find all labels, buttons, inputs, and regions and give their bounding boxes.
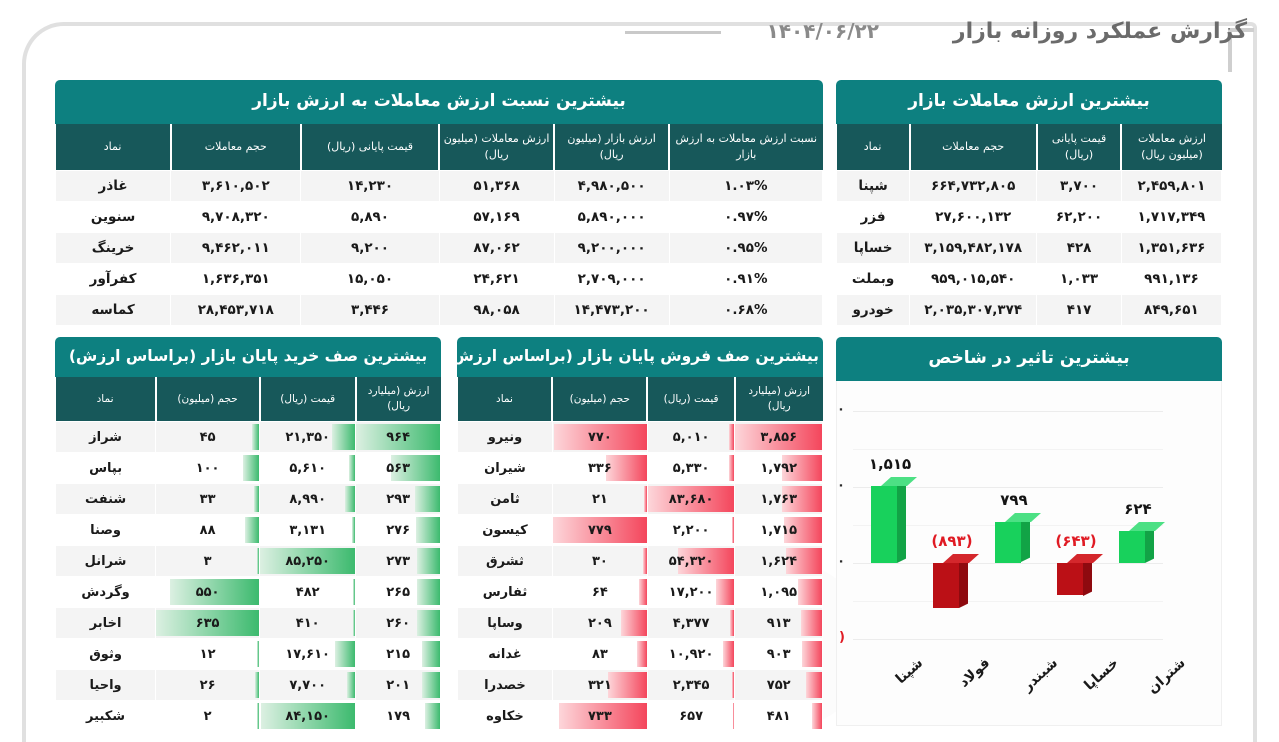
data-bar	[732, 517, 735, 543]
cell-symbol: شرانل	[56, 546, 156, 577]
cell-symbol: وصنا	[56, 515, 156, 546]
cell-ratio: ۰.۶۸%	[669, 294, 822, 325]
col-trade-value: ارزش معاملات (میلیون ریال)	[439, 124, 554, 170]
cell-volume: ۸۸	[156, 515, 260, 546]
grid-line	[853, 639, 1163, 640]
card-buy-queue: بیشترین صف خرید پایان بازار (براساس ارزش…	[55, 337, 441, 732]
bar-top	[1005, 513, 1041, 522]
table-row: ۹۹۱,۱۳۶۱,۰۳۳۹۵۹,۰۱۵,۵۴۰وبملت	[837, 263, 1222, 294]
cell-volume: ۷۷۰	[552, 422, 647, 453]
cell-marketcap: ۵,۸۹۰,۰۰۰	[554, 201, 669, 232]
cell-close-price: ۵,۸۹۰	[301, 201, 439, 232]
table-row: ۱,۰۹۵۱۷,۲۰۰۶۴ثفارس	[458, 577, 823, 608]
cell-symbol: کیسون	[458, 515, 553, 546]
bar-face	[1057, 563, 1083, 596]
data-bar	[349, 455, 356, 481]
bar-top	[1129, 522, 1165, 531]
cell-value: ۲,۴۵۹,۸۰۱	[1121, 170, 1221, 201]
cell-value: ۵۶۳	[356, 453, 441, 484]
chart-bar	[1119, 531, 1145, 563]
data-bar	[254, 486, 259, 512]
cell-price: ۵,۳۳۰	[647, 453, 735, 484]
data-bar	[417, 579, 440, 605]
cell-volume: ۱۲	[156, 639, 260, 670]
x-axis-label: خساپا	[1082, 655, 1123, 694]
col-volume: حجم (میلیون)	[156, 377, 260, 422]
table-row: ۰.۶۸%۱۴,۴۷۳,۲۰۰۹۸,۰۵۸۳,۴۴۶۲۸,۴۵۳,۷۱۸کماس…	[56, 294, 823, 325]
col-value: ارزش (میلیارد ریال)	[356, 377, 441, 422]
table-header-row: ارزش معاملات (میلیون ریال) قیمت پایانی (…	[837, 124, 1222, 170]
cell-symbol: خساپا	[837, 232, 910, 263]
cell-price: ۴۱۷	[1037, 294, 1122, 325]
data-bar	[639, 579, 647, 605]
card-title: بیشترین صف خرید پایان بازار (براساس ارزش…	[55, 337, 441, 377]
data-bar	[417, 610, 440, 636]
cell-value: ۱,۳۵۱,۶۳۶	[1121, 232, 1221, 263]
data-bar	[644, 486, 647, 512]
y-axis-label: ۱,۵۰۰	[836, 478, 845, 493]
card-sell-queue: بیشترین صف فروش پایان بازار (براساس ارزش…	[457, 337, 823, 732]
cell-price: ۱۷,۲۰۰	[647, 577, 735, 608]
cell-symbol: ثشرق	[458, 546, 553, 577]
report-date: ۱۴۰۴/۰۶/۲۲	[767, 19, 879, 43]
cell-volume: ۵۵۰	[156, 577, 260, 608]
cell-volume: ۱۰۰	[156, 453, 260, 484]
table-row: ۹۱۳۴,۳۷۷۲۰۹وساپا	[458, 608, 823, 639]
bar-value-label: ۶۲۴	[1113, 500, 1163, 518]
cell-volume: ۳,۱۵۹,۴۸۲,۱۷۸	[910, 232, 1037, 263]
grid-line-minor	[853, 449, 1163, 450]
data-bar	[732, 672, 735, 698]
data-bar	[335, 641, 355, 667]
cell-symbol: ونیرو	[458, 422, 553, 453]
table-row: ۷۵۲۲,۳۴۵۳۲۱خصدرا	[458, 670, 823, 701]
cell-volume: ۲۶	[156, 670, 260, 701]
chart-bar	[933, 563, 959, 608]
page-header: گزارش عملکرد روزانه بازار ۱۴۰۴/۰۶/۲۲	[0, 0, 1279, 62]
cell-price: ۵,۶۱۰	[260, 453, 356, 484]
col-close-price: قیمت پایانی (ریال)	[301, 124, 439, 170]
col-value: ارزش (میلیارد ریال)	[735, 377, 823, 422]
bar-face	[871, 486, 897, 563]
cell-volume: ۱,۶۳۶,۳۵۱	[171, 263, 301, 294]
data-bar	[417, 548, 440, 574]
cell-volume: ۳۳	[156, 484, 260, 515]
x-axis-label: فولاد	[956, 655, 993, 691]
col-volume: حجم (میلیون)	[552, 377, 647, 422]
x-axis-label: شبندر	[1020, 655, 1061, 695]
cell-volume: ۳,۶۱۰,۵۰۲	[171, 170, 301, 201]
data-bar	[415, 486, 440, 512]
bar-face	[1119, 531, 1145, 563]
table-row: ۲,۴۵۹,۸۰۱۳,۷۰۰۶۶۴,۷۳۲,۸۰۵شپنا	[837, 170, 1222, 201]
cell-price: ۸۵,۲۵۰	[260, 546, 356, 577]
cell-symbol: فزر	[837, 201, 910, 232]
col-price: قیمت (ریال)	[260, 377, 356, 422]
bar-face	[933, 563, 959, 608]
col-ratio: نسبت ارزش معاملات به ارزش بازار	[669, 124, 822, 170]
table-buy-queue: ارزش (میلیارد ریال) قیمت (ریال) حجم (میل…	[55, 377, 441, 732]
cell-symbol: شراز	[56, 422, 156, 453]
cell-symbol: وگردش	[56, 577, 156, 608]
cell-volume: ۲	[156, 701, 260, 732]
cell-price: ۵۴,۳۲۰	[647, 546, 735, 577]
table-header-row: ارزش (میلیارد ریال) قیمت (ریال) حجم (میل…	[56, 377, 441, 422]
table-row: ۸۴۹,۶۵۱۴۱۷۲,۰۳۵,۳۰۷,۳۷۴خودرو	[837, 294, 1222, 325]
cell-value: ۱,۷۱۵	[735, 515, 823, 546]
cell-value: ۲۶۵	[356, 577, 441, 608]
col-marketcap: ارزش بازار (میلیون ریال)	[554, 124, 669, 170]
chart-canvas: ۳,۰۰۰۱,۵۰۰۰(۱,۵۰۰)۱,۵۱۵شپنا(۸۹۳)فولاد۷۹۹…	[836, 381, 1222, 726]
cell-price: ۴۱۰	[260, 608, 356, 639]
cell-value: ۹۹۱,۱۳۶	[1121, 263, 1221, 294]
table-row: ۵۶۳۵,۶۱۰۱۰۰بپاس	[56, 453, 441, 484]
table-header-row: نسبت ارزش معاملات به ارزش بازار ارزش باز…	[56, 124, 823, 170]
cell-marketcap: ۹,۲۰۰,۰۰۰	[554, 232, 669, 263]
cell-value: ۹۶۴	[356, 422, 441, 453]
y-axis-label: ۰	[836, 554, 845, 569]
cell-volume: ۴۵	[156, 422, 260, 453]
data-bar	[608, 672, 646, 698]
bar-value-label: (۶۴۳)	[1051, 532, 1101, 550]
cell-volume: ۶۶۴,۷۳۲,۸۰۵	[910, 170, 1037, 201]
table-row: ۰.۹۷%۵,۸۹۰,۰۰۰۵۷,۱۶۹۵,۸۹۰۹,۷۰۸,۳۲۰سنوین	[56, 201, 823, 232]
col-symbol: نماد	[458, 377, 553, 422]
cell-trade-value: ۹۸,۰۵۸	[439, 294, 554, 325]
cell-value: ۱,۷۹۲	[735, 453, 823, 484]
table-row: ۲۹۳۸,۹۹۰۳۳شنفت	[56, 484, 441, 515]
cell-value: ۴۸۱	[735, 701, 823, 732]
bar-side	[1083, 558, 1092, 595]
table-row: ۰.۹۵%۹,۲۰۰,۰۰۰۸۷,۰۶۲۹,۲۰۰۹,۴۶۲,۰۱۱خرینگ	[56, 232, 823, 263]
cell-volume: ۲,۰۳۵,۳۰۷,۳۷۴	[910, 294, 1037, 325]
cell-price: ۴,۳۷۷	[647, 608, 735, 639]
cell-price: ۳,۷۰۰	[1037, 170, 1122, 201]
data-bar	[416, 517, 440, 543]
cell-price: ۴۸۲	[260, 577, 356, 608]
data-bar	[425, 703, 440, 729]
cell-value: ۲۷۶	[356, 515, 441, 546]
cell-marketcap: ۴,۹۸۰,۵۰۰	[554, 170, 669, 201]
table-row: ۹۰۳۱۰,۹۲۰۸۳غدانه	[458, 639, 823, 670]
table-sell-queue: ارزش (میلیارد ریال) قیمت (ریال) حجم (میل…	[457, 377, 823, 732]
cell-price: ۵,۰۱۰	[647, 422, 735, 453]
cell-volume: ۲۰۹	[552, 608, 647, 639]
data-bar	[716, 579, 734, 605]
data-bar	[801, 610, 822, 636]
bar-value-label: (۸۹۳)	[927, 532, 977, 550]
page-title: گزارش عملکرد روزانه بازار	[953, 19, 1247, 44]
cell-value: ۲۷۳	[356, 546, 441, 577]
cell-value: ۳,۸۵۶	[735, 422, 823, 453]
col-volume: حجم معاملات	[910, 124, 1037, 170]
table-row: ۱۷۹۸۴,۱۵۰۲شکبیر	[56, 701, 441, 732]
cell-trade-value: ۵۷,۱۶۹	[439, 201, 554, 232]
cell-price: ۷,۷۰۰	[260, 670, 356, 701]
card-title: بیشترین تاثیر در شاخص	[836, 337, 1222, 381]
table-row: ۱,۷۹۲۵,۳۳۰۳۳۶شیران	[458, 453, 823, 484]
data-bar	[729, 455, 734, 481]
table-row: ۲۱۵۱۷,۶۱۰۱۲وثوق	[56, 639, 441, 670]
cell-price: ۲,۲۰۰	[647, 515, 735, 546]
cell-symbol: خکاوه	[458, 701, 553, 732]
bar-value-label: ۱,۵۱۵	[865, 455, 915, 473]
data-bar	[353, 579, 355, 605]
cell-price: ۳,۱۳۱	[260, 515, 356, 546]
cell-symbol: شکبیر	[56, 701, 156, 732]
cell-volume: ۳۲۱	[552, 670, 647, 701]
cell-symbol: غدانه	[458, 639, 553, 670]
cell-price: ۴۲۸	[1037, 232, 1122, 263]
bar-face	[995, 522, 1021, 562]
cell-value: ۱۷۹	[356, 701, 441, 732]
cell-symbol: وبملت	[837, 263, 910, 294]
cell-price: ۸۳,۶۸۰	[647, 484, 735, 515]
data-bar	[422, 672, 440, 698]
data-bar	[606, 455, 646, 481]
table-row: ۱,۶۲۴۵۴,۳۲۰۳۰ثشرق	[458, 546, 823, 577]
data-bar	[812, 703, 822, 729]
cell-symbol: ثامن	[458, 484, 553, 515]
cell-value: ۹۱۳	[735, 608, 823, 639]
data-bar	[733, 703, 735, 729]
data-bar	[798, 579, 822, 605]
cell-value: ۱,۷۶۳	[735, 484, 823, 515]
cell-marketcap: ۱۴,۴۷۳,۲۰۰	[554, 294, 669, 325]
bar-side	[959, 558, 968, 608]
cell-volume: ۸۳	[552, 639, 647, 670]
cell-symbol: غاذر	[56, 170, 171, 201]
cell-close-price: ۱۴,۲۳۰	[301, 170, 439, 201]
cell-close-price: ۱۵,۰۵۰	[301, 263, 439, 294]
cell-symbol: بپاس	[56, 453, 156, 484]
cell-value: ۲۱۵	[356, 639, 441, 670]
table-header-row: ارزش (میلیارد ریال) قیمت (ریال) حجم (میل…	[458, 377, 823, 422]
bar-side	[1145, 527, 1154, 563]
table-row: ۳,۸۵۶۵,۰۱۰۷۷۰ونیرو	[458, 422, 823, 453]
card-title: بیشترین نسبت ارزش معاملات به ارزش بازار	[55, 80, 823, 124]
cell-price: ۱۷,۶۱۰	[260, 639, 356, 670]
cell-symbol: وساپا	[458, 608, 553, 639]
cell-ratio: ۰.۹۵%	[669, 232, 822, 263]
cell-value: ۲۹۳	[356, 484, 441, 515]
cell-symbol: شیران	[458, 453, 553, 484]
cell-volume: ۲۱	[552, 484, 647, 515]
grid-line-minor	[853, 601, 1163, 602]
cell-symbol: کماسه	[56, 294, 171, 325]
cell-marketcap: ۲,۷۰۹,۰۰۰	[554, 263, 669, 294]
table-row: ۱,۷۱۵۲,۲۰۰۷۷۹کیسون	[458, 515, 823, 546]
cell-value: ۸۴۹,۶۵۱	[1121, 294, 1221, 325]
cell-volume: ۷۷۹	[552, 515, 647, 546]
data-bar	[332, 424, 356, 450]
data-bar	[730, 610, 734, 636]
cell-volume: ۳	[156, 546, 260, 577]
x-axis-label: شتران	[1145, 655, 1189, 697]
report-page: گزارش عملکرد روزانه بازار ۱۴۰۴/۰۶/۲۲ بیش…	[0, 0, 1279, 742]
cell-ratio: ۰.۹۷%	[669, 201, 822, 232]
data-bar	[723, 641, 734, 667]
col-symbol: نماد	[56, 124, 171, 170]
bar-side	[897, 482, 906, 563]
bar-top	[1067, 554, 1103, 563]
bar-side	[1021, 518, 1030, 563]
col-price: قیمت پایانی (ریال)	[1037, 124, 1122, 170]
data-bar	[643, 548, 647, 574]
cell-symbol: اخابر	[56, 608, 156, 639]
cell-value: ۱,۷۱۷,۳۴۹	[1121, 201, 1221, 232]
data-bar	[802, 641, 822, 667]
cell-symbol: خودرو	[837, 294, 910, 325]
data-bar	[245, 517, 259, 543]
bar-top	[943, 554, 979, 563]
card-trade-to-mcap-ratio: بیشترین نسبت ارزش معاملات به ارزش بازار …	[55, 80, 823, 326]
y-axis-label: ۳,۰۰۰	[836, 402, 845, 417]
data-bar	[729, 424, 734, 450]
data-bar	[257, 641, 259, 667]
table-row: ۲۷۳۸۵,۲۵۰۳شرانل	[56, 546, 441, 577]
grid-line	[853, 411, 1163, 412]
cell-value: ۲۶۰	[356, 608, 441, 639]
data-bar	[243, 455, 259, 481]
cell-volume: ۲۷,۶۰۰,۱۳۲	[910, 201, 1037, 232]
cell-symbol: سنوین	[56, 201, 171, 232]
cell-volume: ۳۳۶	[552, 453, 647, 484]
cell-value: ۹۰۳	[735, 639, 823, 670]
cell-symbol: واحیا	[56, 670, 156, 701]
col-volume: حجم معاملات	[171, 124, 301, 170]
table-row: ۹۶۴۲۱,۳۵۰۴۵شراز	[56, 422, 441, 453]
table-row: ۴۸۱۶۵۷۷۳۳خکاوه	[458, 701, 823, 732]
table-row: ۱.۰۳%۴,۹۸۰,۵۰۰۵۱,۳۶۸۱۴,۲۳۰۳,۶۱۰,۵۰۲غاذر	[56, 170, 823, 201]
table-top-trade-value: ارزش معاملات (میلیون ریال) قیمت پایانی (…	[836, 124, 1222, 326]
cell-volume: ۷۳۳	[552, 701, 647, 732]
cell-symbol: شپنا	[837, 170, 910, 201]
cell-close-price: ۳,۴۴۶	[301, 294, 439, 325]
data-bar	[352, 517, 356, 543]
cell-value: ۷۵۲	[735, 670, 823, 701]
data-bar	[257, 703, 259, 729]
table-row: ۲۷۶۳,۱۳۱۸۸وصنا	[56, 515, 441, 546]
data-bar	[806, 672, 822, 698]
data-bar	[422, 641, 440, 667]
card-title: بیشترین ارزش معاملات بازار	[836, 80, 1222, 124]
cell-close-price: ۹,۲۰۰	[301, 232, 439, 263]
table-trade-to-mcap-ratio: نسبت ارزش معاملات به ارزش بازار ارزش باز…	[55, 124, 823, 326]
cell-volume: ۹,۷۰۸,۳۲۰	[171, 201, 301, 232]
cell-ratio: ۰.۹۱%	[669, 263, 822, 294]
cell-symbol: خصدرا	[458, 670, 553, 701]
cell-symbol: شنفت	[56, 484, 156, 515]
table-row: ۲۶۵۴۸۲۵۵۰وگردش	[56, 577, 441, 608]
cell-volume: ۹,۴۶۲,۰۱۱	[171, 232, 301, 263]
cell-price: ۶۵۷	[647, 701, 735, 732]
cell-volume: ۶۴	[552, 577, 647, 608]
cell-symbol: کفرآور	[56, 263, 171, 294]
cell-value: ۱,۰۹۵	[735, 577, 823, 608]
table-row: ۰.۹۱%۲,۷۰۹,۰۰۰۲۴,۶۲۱۱۵,۰۵۰۱,۶۳۶,۳۵۱کفرآو…	[56, 263, 823, 294]
col-symbol: نماد	[56, 377, 156, 422]
cell-price: ۲,۳۴۵	[647, 670, 735, 701]
cell-price: ۱۰,۹۲۰	[647, 639, 735, 670]
card-index-impact-chart: بیشترین تاثیر در شاخص ۳,۰۰۰۱,۵۰۰۰(۱,۵۰۰)…	[836, 337, 1222, 726]
data-bar	[255, 672, 259, 698]
cell-symbol: وثوق	[56, 639, 156, 670]
cell-price: ۸۴,۱۵۰	[260, 701, 356, 732]
table-row: ۱,۷۱۷,۳۴۹۶۲,۲۰۰۲۷,۶۰۰,۱۳۲فزر	[837, 201, 1222, 232]
x-axis-label: شپنا	[893, 655, 926, 687]
cell-value: ۱,۶۲۴	[735, 546, 823, 577]
data-bar	[637, 641, 647, 667]
cell-price: ۱,۰۳۳	[1037, 263, 1122, 294]
card-top-trade-value: بیشترین ارزش معاملات بازار ارزش معاملات …	[836, 80, 1222, 326]
cell-trade-value: ۸۷,۰۶۲	[439, 232, 554, 263]
table-row: ۱,۷۶۳۸۳,۶۸۰۲۱ثامن	[458, 484, 823, 515]
data-bar	[345, 486, 355, 512]
chart-bar	[995, 522, 1021, 562]
cell-trade-value: ۵۱,۳۶۸	[439, 170, 554, 201]
plot-area: ۳,۰۰۰۱,۵۰۰۰(۱,۵۰۰)۱,۵۱۵شپنا(۸۹۳)فولاد۷۹۹…	[853, 411, 1163, 639]
col-symbol: نماد	[837, 124, 910, 170]
cell-price: ۶۲,۲۰۰	[1037, 201, 1122, 232]
table-row: ۱,۳۵۱,۶۳۶۴۲۸۳,۱۵۹,۴۸۲,۱۷۸خساپا	[837, 232, 1222, 263]
col-value: ارزش معاملات (میلیون ریال)	[1121, 124, 1221, 170]
header-divider	[625, 31, 721, 34]
cell-volume: ۳۰	[552, 546, 647, 577]
cell-volume: ۲۸,۴۵۳,۷۱۸	[171, 294, 301, 325]
cell-price: ۲۱,۳۵۰	[260, 422, 356, 453]
bar-value-label: ۷۹۹	[989, 491, 1039, 509]
grid-line	[853, 563, 1163, 564]
chart-bar	[1057, 563, 1083, 596]
card-title: بیشترین صف فروش پایان بازار (براساس ارزش…	[457, 337, 823, 377]
cell-volume: ۶۳۵	[156, 608, 260, 639]
cell-value: ۲۰۱	[356, 670, 441, 701]
data-bar	[353, 610, 355, 636]
cell-symbol: ثفارس	[458, 577, 553, 608]
cell-volume: ۹۵۹,۰۱۵,۵۴۰	[910, 263, 1037, 294]
data-bar	[347, 672, 356, 698]
data-bar	[257, 548, 259, 574]
cell-trade-value: ۲۴,۶۲۱	[439, 263, 554, 294]
data-bar	[252, 424, 259, 450]
y-axis-label: (۱,۵۰۰)	[836, 630, 845, 645]
cell-symbol: خرینگ	[56, 232, 171, 263]
table-row: ۲۰۱۷,۷۰۰۲۶واحیا	[56, 670, 441, 701]
col-price: قیمت (ریال)	[647, 377, 735, 422]
cell-price: ۸,۹۹۰	[260, 484, 356, 515]
bar-top	[881, 477, 917, 486]
data-bar	[621, 610, 646, 636]
cell-ratio: ۱.۰۳%	[669, 170, 822, 201]
table-row: ۲۶۰۴۱۰۶۳۵اخابر	[56, 608, 441, 639]
chart-bar	[871, 486, 897, 563]
